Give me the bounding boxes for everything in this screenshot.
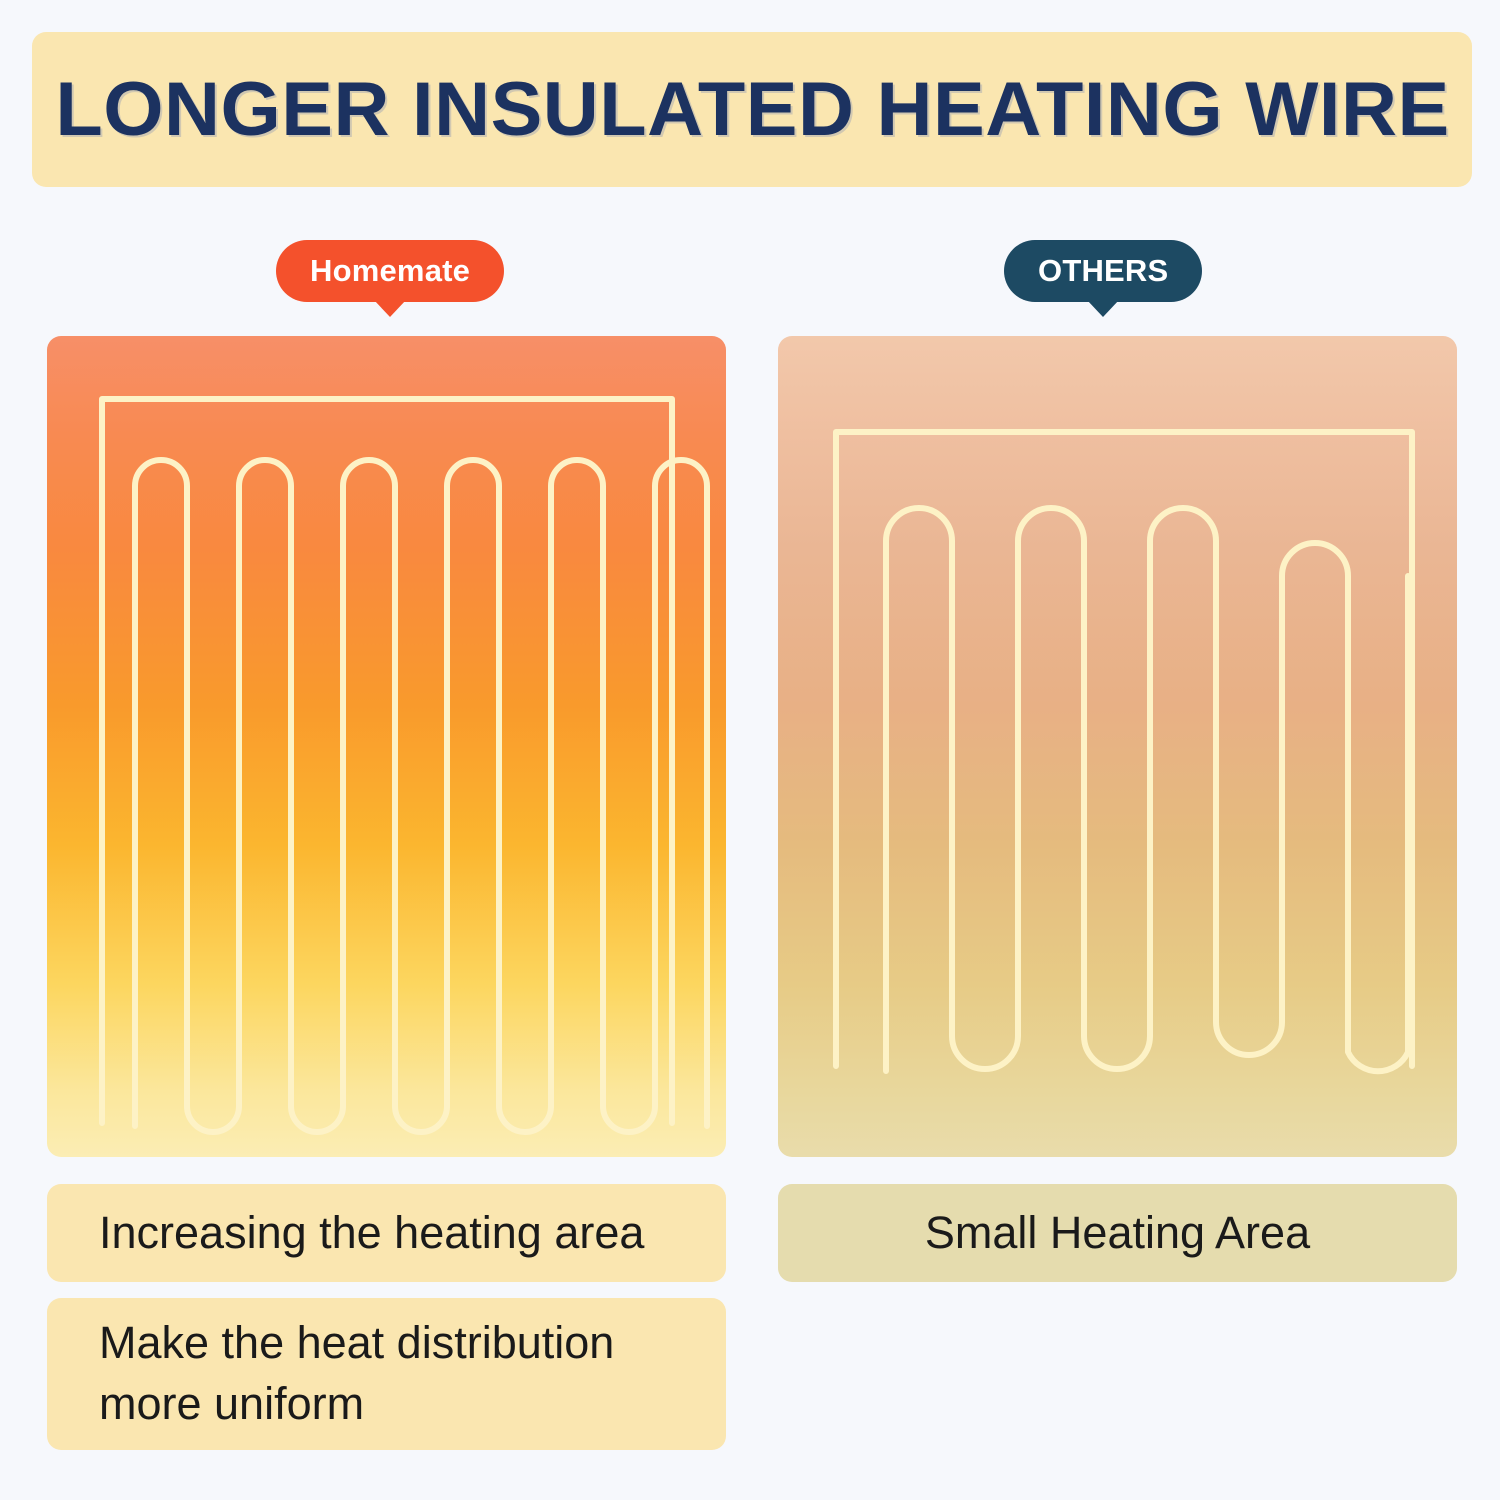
heating-pad-right xyxy=(778,336,1457,1157)
badge-pointer-icon xyxy=(1087,300,1119,317)
caption-uniform-heat: Make the heat distribution more uniform xyxy=(47,1298,726,1450)
badge-homemate-label: Homemate xyxy=(310,253,470,289)
caption-increasing-heating-area: Increasing the heating area xyxy=(47,1184,726,1282)
page-title: LONGER INSULATED HEATING WIRE xyxy=(55,66,1449,153)
caption-text: Small Heating Area xyxy=(925,1203,1310,1264)
caption-small-heating-area: Small Heating Area xyxy=(778,1184,1457,1282)
badge-others-label: OTHERS xyxy=(1038,253,1168,289)
heating-wire-dense-icon xyxy=(47,336,726,1157)
caption-text: Increasing the heating area xyxy=(99,1203,644,1264)
badge-homemate: Homemate xyxy=(276,240,504,302)
caption-text: Make the heat distribution more uniform xyxy=(99,1313,726,1435)
heating-pad-left xyxy=(47,336,726,1157)
heating-wire-sparse-icon xyxy=(778,336,1457,1157)
title-banner: LONGER INSULATED HEATING WIRE xyxy=(32,32,1472,187)
badge-others: OTHERS xyxy=(1004,240,1202,302)
badge-pointer-icon xyxy=(374,300,406,317)
infographic-root: LONGER INSULATED HEATING WIRE Homemate O… xyxy=(0,0,1500,1500)
